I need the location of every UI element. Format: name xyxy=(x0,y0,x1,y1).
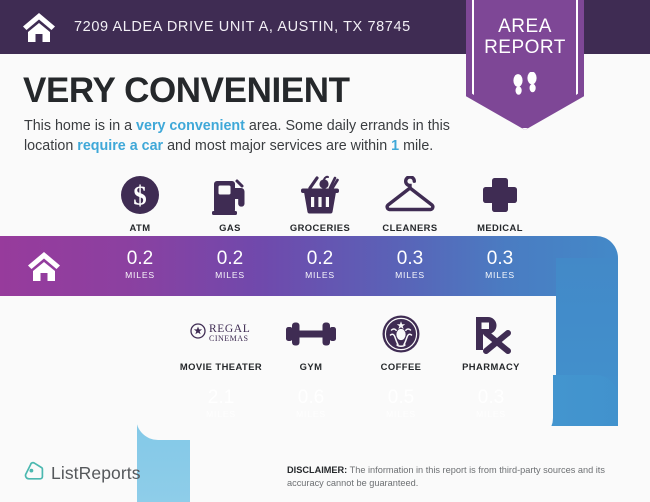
gas-pump-icon xyxy=(211,174,249,216)
distance-cell: 0.3 MILES xyxy=(446,388,536,419)
distance-unit: MILES xyxy=(95,270,185,280)
regal-cinemas-icon: REGAL CINEMAS xyxy=(189,313,253,355)
area-report-badge: AREA REPORT xyxy=(466,0,584,130)
dumbbell-icon xyxy=(284,313,338,355)
amenity-label: GAS xyxy=(219,222,241,233)
listreports-house-icon xyxy=(24,461,44,486)
distance-value: 2.1 xyxy=(176,388,266,408)
distance-unit: MILES xyxy=(446,409,536,419)
listreports-logo: ListReports xyxy=(24,461,141,486)
amenity-pharmacy: PHARMACY xyxy=(446,313,536,372)
amenity-groceries: GROCERIES xyxy=(275,174,365,233)
distance-unit: MILES xyxy=(185,270,275,280)
grocery-basket-icon xyxy=(298,174,342,216)
distance-row-secondary: 2.1 MILES 0.6 MILES 0.5 MILES 0.3 MILES xyxy=(176,388,536,419)
listreports-logo-text: ListReports xyxy=(51,463,141,484)
badge-label: AREA REPORT xyxy=(466,16,584,59)
amenity-coffee: COFFEE xyxy=(356,313,446,372)
amenity-label: ATM xyxy=(130,222,151,233)
amenity-label: PHARMACY xyxy=(462,361,520,372)
distance-value: 0.3 xyxy=(446,388,536,408)
distance-cell: 0.3 MILES xyxy=(365,249,455,280)
amenity-label: MEDICAL xyxy=(477,222,523,233)
amenity-icon-row-secondary: REGAL CINEMAS MOVIE THEATER GYM xyxy=(176,313,536,372)
distance-value: 0.2 xyxy=(95,249,185,269)
amenity-medical: MEDICAL xyxy=(455,174,545,233)
distance-unit: MILES xyxy=(266,409,356,419)
distance-value: 0.2 xyxy=(185,249,275,269)
distance-unit: MILES xyxy=(176,409,266,419)
amenity-label: CLEANERS xyxy=(382,222,437,233)
distance-value: 0.5 xyxy=(356,388,446,408)
distance-unit: MILES xyxy=(275,270,365,280)
distance-value: 0.3 xyxy=(455,249,545,269)
amenity-cleaners: CLEANERS xyxy=(365,174,455,233)
distance-cell: 0.2 MILES xyxy=(275,249,365,280)
amenity-gas: GAS xyxy=(185,174,275,233)
badge-line-2: REPORT xyxy=(466,37,584,58)
amenity-label: GROCERIES xyxy=(290,222,350,233)
amenity-label: MOVIE THEATER xyxy=(180,361,262,372)
clothes-hanger-icon xyxy=(384,174,436,216)
footprints-icon xyxy=(466,72,584,98)
distance-cell: 0.5 MILES xyxy=(356,388,446,419)
amenity-movie-theater: REGAL CINEMAS MOVIE THEATER xyxy=(176,313,266,372)
dollar-circle-icon: $ xyxy=(120,174,160,216)
distance-unit: MILES xyxy=(365,270,455,280)
distance-value: 0.3 xyxy=(365,249,455,269)
distance-cell: 0.6 MILES xyxy=(266,388,356,419)
amenity-gym: GYM xyxy=(266,313,356,372)
distance-unit: MILES xyxy=(356,409,446,419)
prescription-rx-icon xyxy=(470,313,512,355)
medical-cross-icon xyxy=(481,174,519,216)
amenity-label: COFFEE xyxy=(381,361,422,372)
svg-text:CINEMAS: CINEMAS xyxy=(209,334,249,343)
distance-unit: MILES xyxy=(455,270,545,280)
distance-value: 0.6 xyxy=(266,388,356,408)
area-report-infographic: 7209 ALDEA DRIVE UNIT A, AUSTIN, TX 7874… xyxy=(0,0,650,502)
amenity-label: GYM xyxy=(300,361,323,372)
svg-text:$: $ xyxy=(133,181,147,211)
distance-row-primary: 0.2 MILES 0.2 MILES 0.2 MILES 0.3 MILES … xyxy=(95,249,545,280)
disclaimer-label: DISCLAIMER: xyxy=(287,465,347,475)
disclaimer-text: DISCLAIMER: The information in this repo… xyxy=(287,464,639,491)
badge-line-1: AREA xyxy=(466,16,584,37)
starbucks-icon xyxy=(381,313,421,355)
distance-value: 0.2 xyxy=(275,249,365,269)
distance-cell: 2.1 MILES xyxy=(176,388,266,419)
home-marker-icon xyxy=(26,250,62,282)
amenity-atm: $ ATM xyxy=(95,174,185,233)
amenity-icon-row-primary: $ ATM GAS xyxy=(95,174,545,233)
distance-cell: 0.3 MILES xyxy=(455,249,545,280)
distance-cell: 0.2 MILES xyxy=(95,249,185,280)
distance-cell: 0.2 MILES xyxy=(185,249,275,280)
